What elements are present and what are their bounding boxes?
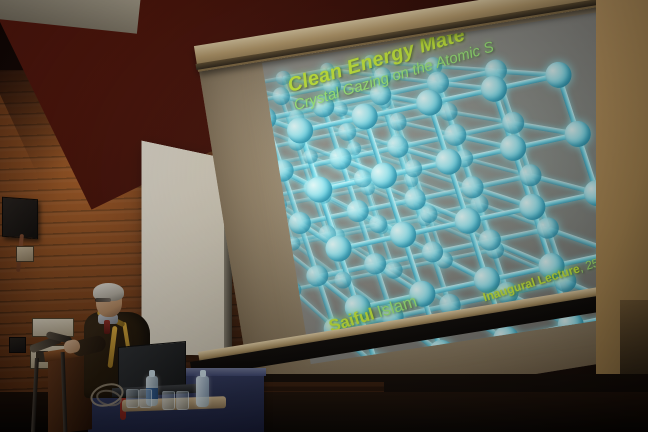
necktie <box>104 320 110 334</box>
wall-plate <box>9 337 26 353</box>
lecture-hall-photo: Clean Energy Mate Crystal Gazing on the … <box>0 0 648 432</box>
water-bottle <box>196 376 209 407</box>
glasses-icon <box>95 298 111 302</box>
drinking-glass <box>176 391 189 410</box>
loudspeaker-icon <box>2 197 38 240</box>
drinking-glass <box>139 389 152 408</box>
drinking-glass <box>162 391 175 410</box>
lattice-atom <box>562 118 594 150</box>
wall-plate <box>16 246 34 262</box>
lattice-atom <box>442 122 469 149</box>
lattice-atom <box>542 59 574 91</box>
drinking-glass <box>126 389 139 408</box>
